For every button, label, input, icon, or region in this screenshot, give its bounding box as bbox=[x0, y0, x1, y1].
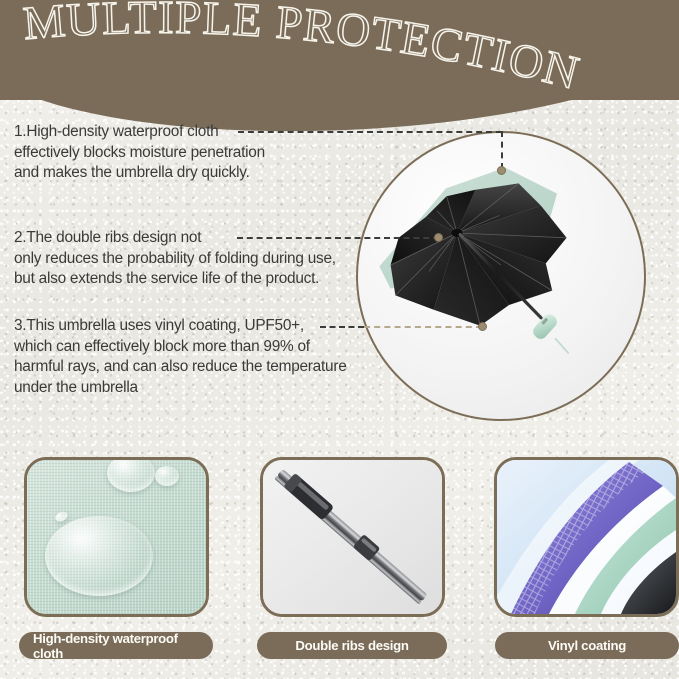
caption-pill-vinyl-coating[interactable]: Vinyl coating bbox=[495, 632, 679, 659]
thumbnail-waterproof-cloth[interactable] bbox=[24, 457, 209, 617]
product-infographic: MULTIPLE PROTECTION 1.High-density water… bbox=[0, 0, 679, 679]
leader-line-3-horizontal-tan bbox=[364, 326, 482, 328]
leader-dot-3 bbox=[478, 322, 487, 331]
leader-dot-1 bbox=[497, 166, 506, 175]
umbrella-handle bbox=[531, 312, 569, 353]
thumbnail-vinyl-coating[interactable] bbox=[494, 457, 679, 617]
leader-dot-2 bbox=[434, 233, 443, 242]
leader-line-1-vertical bbox=[501, 131, 503, 169]
caption-label: Vinyl coating bbox=[548, 638, 626, 653]
umbrella-svg bbox=[374, 169, 604, 369]
coating-layers-illustration bbox=[497, 460, 676, 614]
caption-label: Double ribs design bbox=[295, 638, 408, 653]
caption-pill-waterproof-cloth[interactable]: High-density waterproof cloth bbox=[19, 632, 213, 659]
water-droplet-small-icon bbox=[155, 466, 179, 486]
feature-text-vinyl-coating: 3.This umbrella uses vinyl coating, UPF5… bbox=[14, 316, 382, 398]
water-droplet-large-icon bbox=[45, 516, 153, 596]
caption-pill-double-ribs[interactable]: Double ribs design bbox=[257, 632, 447, 659]
leader-line-2-horizontal bbox=[237, 237, 439, 239]
umbrella-illustration bbox=[358, 133, 644, 419]
thumbnail-double-ribs[interactable] bbox=[260, 457, 445, 617]
leader-line-3-horizontal bbox=[320, 326, 364, 328]
caption-label: High-density waterproof cloth bbox=[33, 631, 199, 661]
rib-strut-illustration bbox=[263, 460, 442, 614]
leader-line-1-horizontal bbox=[238, 131, 502, 133]
